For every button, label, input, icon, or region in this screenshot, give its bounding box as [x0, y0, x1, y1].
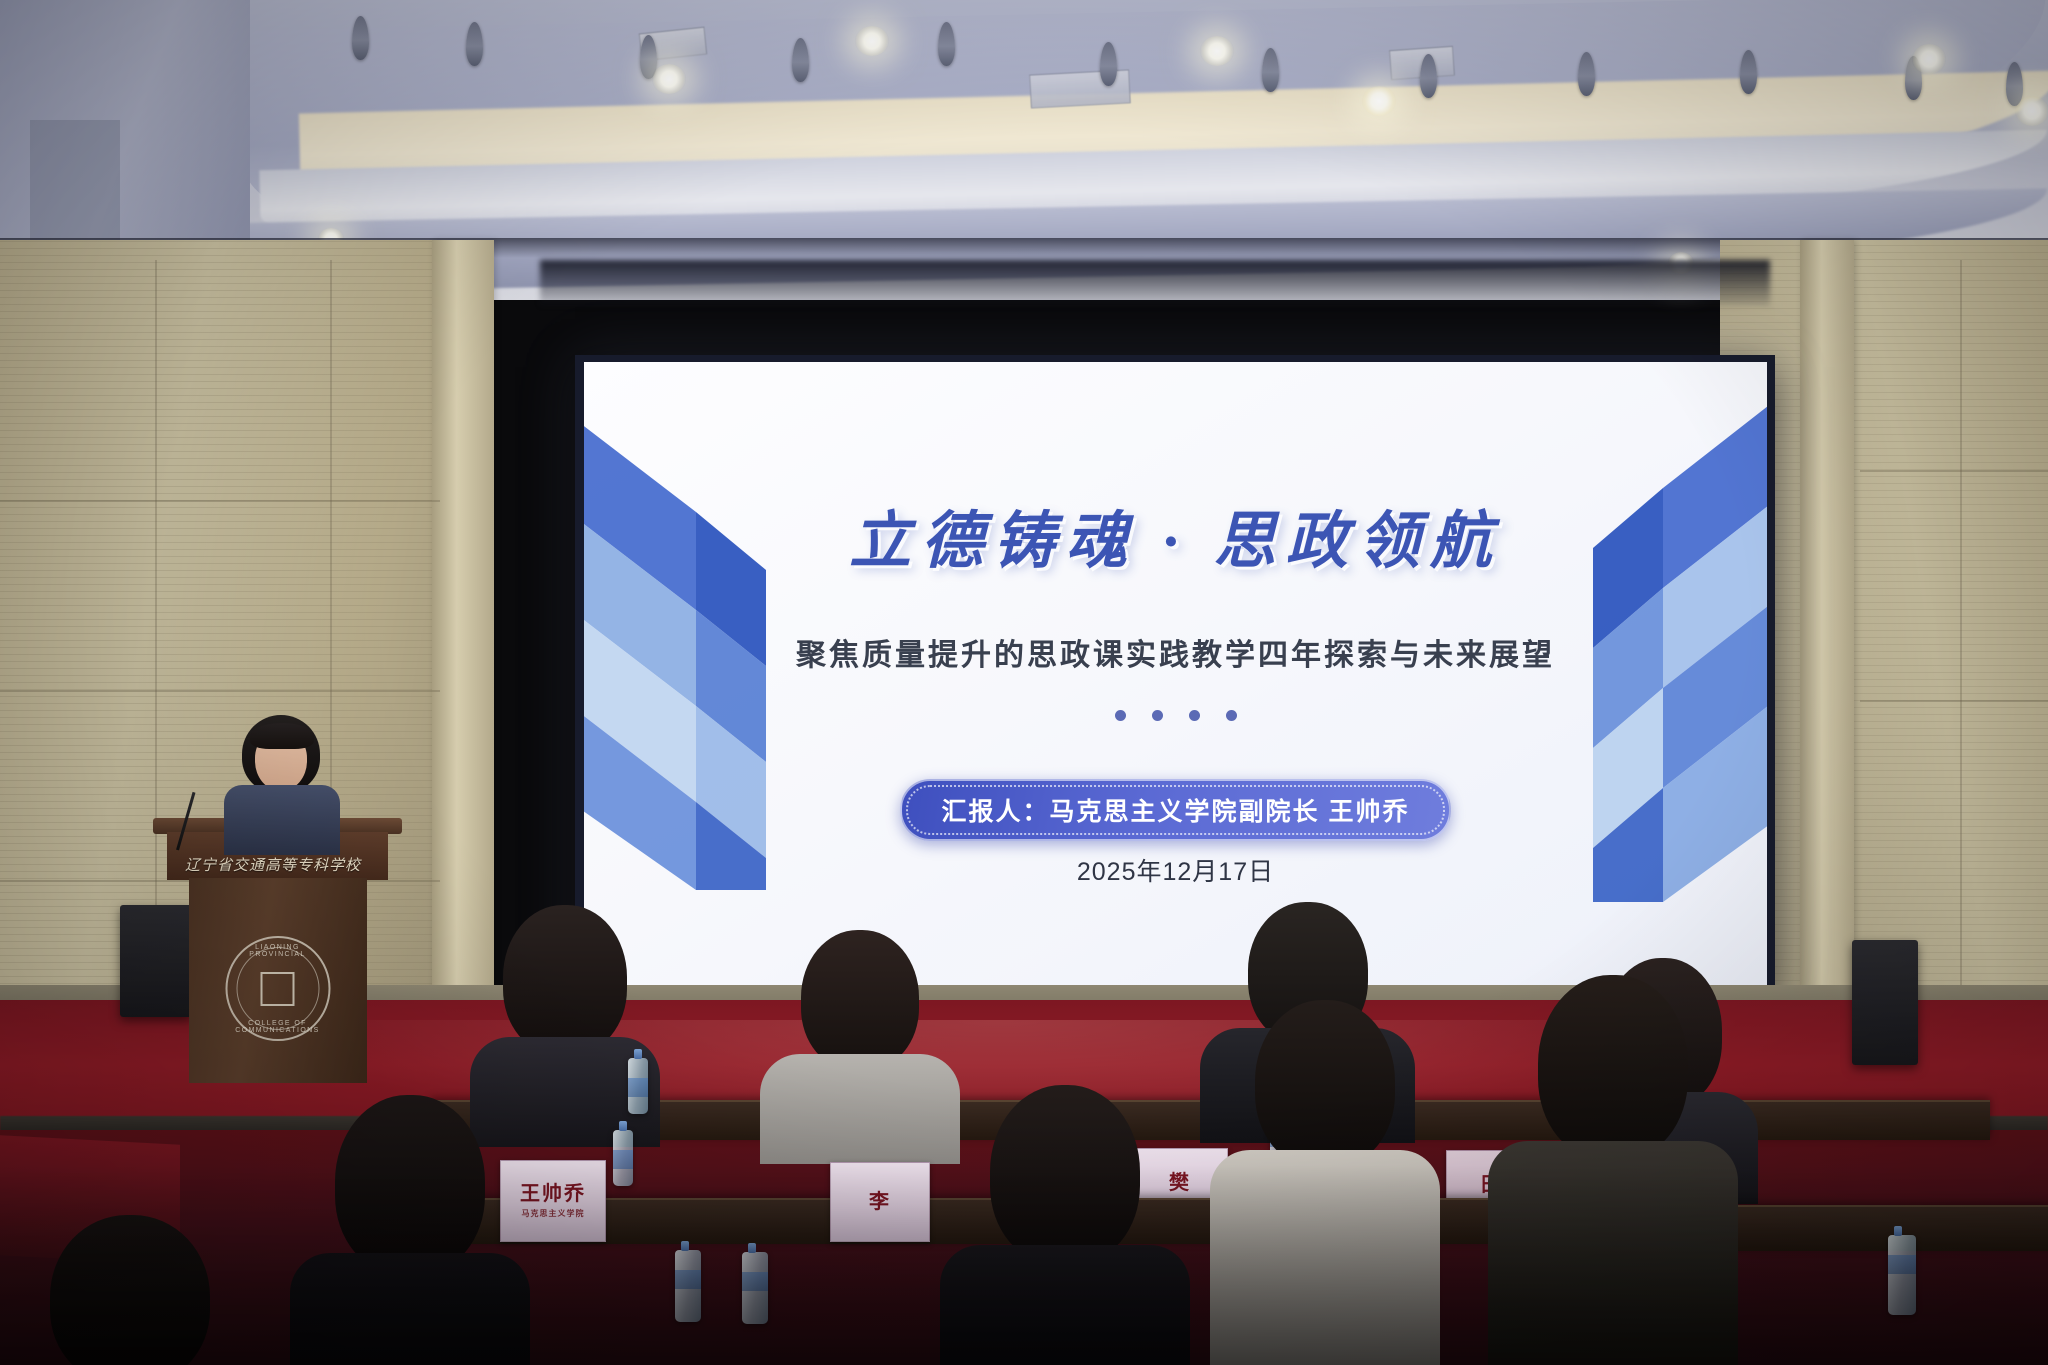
- wall-seam: [1860, 470, 2048, 472]
- wall-column-right: [1800, 240, 1854, 1040]
- water-bottle: [742, 1252, 768, 1324]
- audience-head: [1538, 975, 1688, 1160]
- bottle-label: [1888, 1255, 1916, 1274]
- pendant-light-icon: [352, 16, 369, 60]
- bottle-label: [742, 1272, 768, 1291]
- audience-shoulders: [940, 1245, 1190, 1365]
- water-bottle: [1888, 1235, 1916, 1315]
- bottle-label: [613, 1150, 633, 1169]
- audience-head: [990, 1085, 1140, 1265]
- audience-member-foreground: [290, 1095, 530, 1365]
- emblem-center-mark: [261, 972, 295, 1006]
- screen-top-shadow: [540, 260, 1770, 306]
- audience-head: [50, 1215, 210, 1365]
- presenter-fringe: [250, 723, 314, 749]
- ceiling-spotlight-on: [2015, 96, 2048, 126]
- ceiling-spotlight-on: [1912, 44, 1946, 74]
- water-bottle: [628, 1058, 648, 1114]
- podium: 辽宁省交通高等专科学校 LIAONING PROVINCIAL COLLEGE …: [175, 818, 380, 1088]
- loudspeaker-right: [1852, 940, 1918, 1065]
- wall-seam: [1960, 260, 1962, 1040]
- name-card: 李: [830, 1162, 930, 1242]
- bottle-label: [675, 1270, 701, 1289]
- water-bottle: [675, 1250, 701, 1322]
- school-emblem-icon: LIAONING PROVINCIAL COLLEGE OF COMMUNICA…: [225, 936, 330, 1041]
- name-card-name: 李: [869, 1192, 891, 1213]
- name-card-subtitle: 马克思主义学院: [522, 1208, 585, 1219]
- audience-head: [335, 1095, 485, 1275]
- audience-shoulders: [760, 1054, 960, 1164]
- audience-head: [503, 905, 627, 1055]
- audience-member-foreground: [1488, 975, 1738, 1365]
- separator-dot: [1226, 710, 1237, 721]
- audience-member-foreground: [0, 1215, 260, 1365]
- separator-dot: [1115, 710, 1126, 721]
- audience-head: [801, 930, 919, 1070]
- presenter-torso: [224, 785, 340, 855]
- wall-seam: [0, 690, 440, 692]
- separator-dot: [1189, 710, 1200, 721]
- wall-seam: [0, 500, 440, 502]
- conference-hall-photo: 立德铸魂 · 思政领航 聚焦质量提升的思政课实践教学四年探索与未来展望 汇报人：…: [0, 0, 2048, 1365]
- emblem-top-text: LIAONING PROVINCIAL: [227, 944, 328, 958]
- water-bottle: [613, 1130, 633, 1186]
- audience-member-foreground: [940, 1085, 1190, 1365]
- audience-shoulders: [1488, 1141, 1738, 1365]
- separator-dot: [1152, 710, 1163, 721]
- ceiling-spotlight-on: [1362, 86, 1396, 116]
- audience-head: [1255, 1000, 1395, 1168]
- audience-member: [760, 930, 960, 1145]
- slide-title: 立德铸魂 · 思政领航: [584, 490, 1767, 580]
- bottle-label: [628, 1078, 648, 1097]
- ceiling-spotlight-on: [1200, 36, 1234, 66]
- wall-seam: [1860, 700, 2048, 702]
- slide-dot-separator: [584, 710, 1767, 721]
- slide-subtitle: 聚焦质量提升的思政课实践教学四年探索与未来展望: [584, 630, 1767, 674]
- led-screen[interactable]: 立德铸魂 · 思政领航 聚焦质量提升的思政课实践教学四年探索与未来展望 汇报人：…: [575, 355, 1775, 995]
- slide-date: 2025年12月17日: [584, 852, 1767, 888]
- ceiling-spotlight-on: [855, 26, 889, 56]
- podium-label: 辽宁省交通高等专科学校: [185, 854, 375, 875]
- audience-shoulders: [1210, 1150, 1440, 1365]
- audience-shoulders: [290, 1253, 530, 1365]
- presenter-badge: 汇报人：马克思主义学院副院长 王帅乔: [900, 779, 1452, 841]
- emblem-bottom-text: COLLEGE OF COMMUNICATIONS: [227, 1020, 328, 1034]
- audience-member-foreground: [1210, 1000, 1440, 1365]
- ceiling-spotlight-on: [652, 64, 686, 94]
- presenter-person: [222, 715, 342, 835]
- presentation-slide[interactable]: 立德铸魂 · 思政领航 聚焦质量提升的思政课实践教学四年探索与未来展望 汇报人：…: [584, 362, 1767, 986]
